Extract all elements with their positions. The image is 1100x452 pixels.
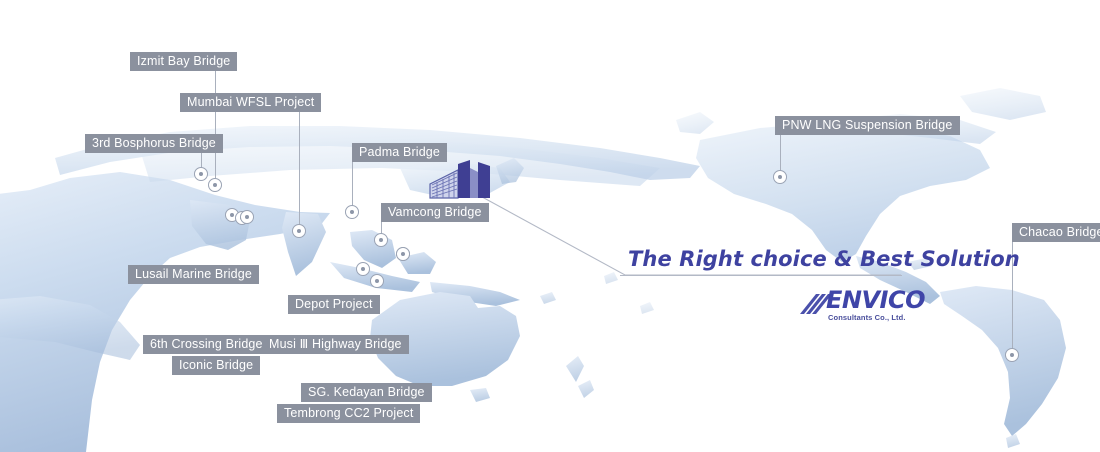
project-label-6th-crossing-bridge[interactable]: 6th Crossing Bridge — [143, 335, 270, 354]
map-marker-mumbai-wfsl-project[interactable] — [292, 224, 306, 238]
logo-subtitle: Consultants Co., Ltd. — [828, 313, 906, 322]
project-label-lusail-marine-bridge[interactable]: Lusail Marine Bridge — [128, 265, 259, 284]
leader-line-mumbai-wfsl-project — [299, 112, 300, 231]
project-label-izmit-bay-bridge[interactable]: Izmit Bay Bridge — [130, 52, 237, 71]
project-label-pnw-lng-suspension-bridge[interactable]: PNW LNG Suspension Bridge — [775, 116, 960, 135]
project-label-vamcong-bridge[interactable]: Vamcong Bridge — [381, 203, 489, 222]
project-label-3rd-bosphorus-bridge[interactable]: 3rd Bosphorus Bridge — [85, 134, 223, 153]
map-marker-iconic-bridge[interactable] — [240, 210, 254, 224]
map-marker-chacao-bridge[interactable] — [1005, 348, 1019, 362]
map-marker-3rd-bosphorus-bridge[interactable] — [194, 167, 208, 181]
project-label-iconic-bridge[interactable]: Iconic Bridge — [172, 356, 260, 375]
logo-wordmark: ENVICO — [826, 288, 925, 312]
project-label-musi-iii-highway-bridge[interactable]: Musi Ⅲ Highway Bridge — [262, 335, 409, 354]
project-label-tembrong-cc2-project[interactable]: Tembrong CC2 Project — [277, 404, 420, 423]
map-marker-padma-bridge[interactable] — [345, 205, 359, 219]
map-marker-depot-project[interactable] — [356, 262, 370, 276]
tagline: The Right choice & Best Solution — [628, 247, 1020, 271]
leader-line-izmit-bay-bridge — [215, 71, 216, 185]
project-label-padma-bridge[interactable]: Padma Bridge — [352, 143, 447, 162]
map-marker-musi-iii-highway-bridge[interactable] — [370, 274, 384, 288]
map-marker-vamcong-bridge[interactable] — [374, 233, 388, 247]
headquarters-building-icon — [428, 158, 492, 207]
project-label-sg-kedayan-bridge[interactable]: SG. Kedayan Bridge — [301, 383, 432, 402]
map-marker-pnw-lng-suspension-bridge[interactable] — [773, 170, 787, 184]
project-label-chacao-bridge[interactable]: Chacao Bridge — [1012, 223, 1100, 242]
map-marker-tembrong-cc2-project[interactable] — [396, 247, 410, 261]
envico-logo: ENVICO Consultants Co., Ltd. — [800, 288, 912, 324]
project-map-page: Izmit Bay BridgeMumbai WFSL Project3rd B… — [0, 0, 1100, 452]
project-label-mumbai-wfsl-project[interactable]: Mumbai WFSL Project — [180, 93, 321, 112]
map-marker-izmit-bay-bridge[interactable] — [208, 178, 222, 192]
project-label-depot-project[interactable]: Depot Project — [288, 295, 380, 314]
tagline-rule — [620, 275, 902, 276]
